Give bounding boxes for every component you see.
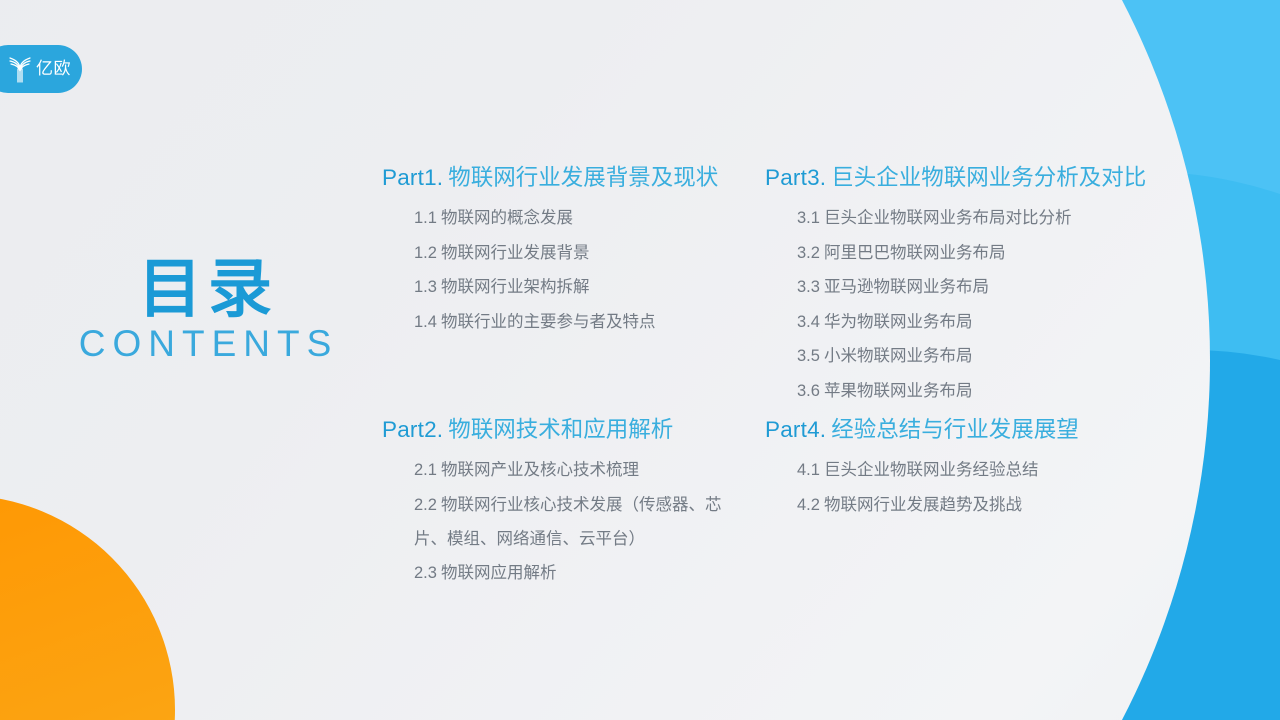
section-items-part4: 4.1巨头企业物联网业务经验总结 4.2物联网行业发展趋势及挑战 [765,453,1185,522]
toc-item-number: 3.6 [797,382,820,400]
toc-item-label: 巨头企业物联网业务经验总结 [824,460,1039,479]
toc-item-number: 4.1 [797,461,820,479]
section-name-part1: 物联网行业发展背景及现状 [448,165,718,191]
toc-item-label: 小米物联网业务布局 [824,346,973,365]
section-heading-part4[interactable]: Part4.经验总结与行业发展展望 [765,416,1185,444]
section-number-part3: Part3. [765,165,826,190]
section-number-part1: Part1. [382,165,443,190]
toc-item-label: 物联网产业及核心技术梳理 [441,460,639,479]
toc-section-part1: Part1.物联网行业发展背景及现状 1.1物联网的概念发展 1.2物联网行业发… [382,164,742,339]
toc-item[interactable]: 1.2物联网行业发展背景 [382,236,742,271]
toc-item-number: 4.2 [797,496,820,514]
toc-item-label: 物联网应用解析 [441,563,557,582]
section-heading-part3[interactable]: Part3.巨头企业物联网业务分析及对比 [765,164,1195,192]
toc-item[interactable]: 1.3物联网行业架构拆解 [382,270,742,305]
toc-item-label: 物联网行业核心技术发展（传感器、芯片、模组、网络通信、云平台） [414,495,721,549]
toc-item-number: 3.2 [797,244,820,262]
toc-item[interactable]: 2.1物联网产业及核心技术梳理 [382,453,754,488]
section-items-part2: 2.1物联网产业及核心技术梳理 2.2物联网行业核心技术发展（传感器、芯片、模组… [382,453,754,590]
section-number-part4: Part4. [765,417,826,442]
toc-item-label: 物联网的概念发展 [441,208,573,227]
page-title-en: CONTENTS [67,325,350,364]
toc-item[interactable]: 2.2物联网行业核心技术发展（传感器、芯片、模组、网络通信、云平台） [382,488,754,556]
toc-item[interactable]: 4.2物联网行业发展趋势及挑战 [765,488,1185,523]
toc-item[interactable]: 3.6苹果物联网业务布局 [765,374,1195,409]
decor-arc-bottom-left-orange [0,495,175,720]
toc-item-number: 3.5 [797,347,820,365]
toc-item[interactable]: 1.4物联行业的主要参与者及特点 [382,305,742,340]
toc-item-number: 1.2 [414,244,437,262]
toc-section-part2: Part2.物联网技术和应用解析 2.1物联网产业及核心技术梳理 2.2物联网行… [382,416,754,590]
toc-item[interactable]: 3.3亚马逊物联网业务布局 [765,270,1195,305]
slide-canvas: 亿欧 目录 CONTENTS Part1.物联网行业发展背景及现状 1.1物联网… [0,0,1280,720]
toc-item-label: 巨头企业物联网业务布局对比分析 [824,208,1072,227]
section-number-part2: Part2. [382,417,443,442]
section-name-part3: 巨头企业物联网业务分析及对比 [831,165,1146,191]
toc-item-number: 2.3 [414,564,437,582]
toc-item[interactable]: 3.4华为物联网业务布局 [765,305,1195,340]
brand-logo-text: 亿欧 [36,61,71,78]
toc-item[interactable]: 2.3物联网应用解析 [382,556,754,591]
section-heading-part2[interactable]: Part2.物联网技术和应用解析 [382,416,754,444]
section-items-part1: 1.1物联网的概念发展 1.2物联网行业发展背景 1.3物联网行业架构拆解 1.… [382,201,742,339]
toc-item[interactable]: 3.1巨头企业物联网业务布局对比分析 [765,201,1195,236]
toc-item-number: 2.1 [414,461,437,479]
tree-y-icon [7,55,33,83]
toc-item-label: 物联行业的主要参与者及特点 [441,312,656,331]
toc-item-label: 物联网行业架构拆解 [441,277,590,296]
toc-item-number: 3.3 [797,278,820,296]
toc-item-label: 阿里巴巴物联网业务布局 [824,243,1006,262]
toc-item-label: 物联网行业发展趋势及挑战 [824,495,1022,514]
toc-item-number: 3.1 [797,209,820,227]
toc-item-label: 苹果物联网业务布局 [824,381,973,400]
section-name-part2: 物联网技术和应用解析 [448,417,673,443]
toc-item[interactable]: 3.2阿里巴巴物联网业务布局 [765,236,1195,271]
page-title: 目录 CONTENTS [60,258,350,364]
page-title-cn: 目录 [66,258,350,323]
toc-item[interactable]: 3.5小米物联网业务布局 [765,339,1195,374]
toc-item-number: 2.2 [414,496,437,514]
toc-section-part3: Part3.巨头企业物联网业务分析及对比 3.1巨头企业物联网业务布局对比分析 … [765,164,1195,408]
toc-item[interactable]: 1.1物联网的概念发展 [382,201,742,236]
section-heading-part1[interactable]: Part1.物联网行业发展背景及现状 [382,164,742,192]
brand-logo[interactable]: 亿欧 [0,45,82,93]
section-items-part3: 3.1巨头企业物联网业务布局对比分析 3.2阿里巴巴物联网业务布局 3.3亚马逊… [765,201,1195,408]
toc-section-part4: Part4.经验总结与行业发展展望 4.1巨头企业物联网业务经验总结 4.2物联… [765,416,1185,522]
toc-item-number: 1.4 [414,313,437,331]
toc-item[interactable]: 4.1巨头企业物联网业务经验总结 [765,453,1185,488]
toc-item-label: 华为物联网业务布局 [824,312,973,331]
toc-item-label: 亚马逊物联网业务布局 [824,277,989,296]
toc-item-number: 3.4 [797,313,820,331]
section-name-part4: 经验总结与行业发展展望 [831,417,1079,443]
toc-item-label: 物联网行业发展背景 [441,243,590,262]
toc-item-number: 1.1 [414,209,437,227]
toc-item-number: 1.3 [414,278,437,296]
